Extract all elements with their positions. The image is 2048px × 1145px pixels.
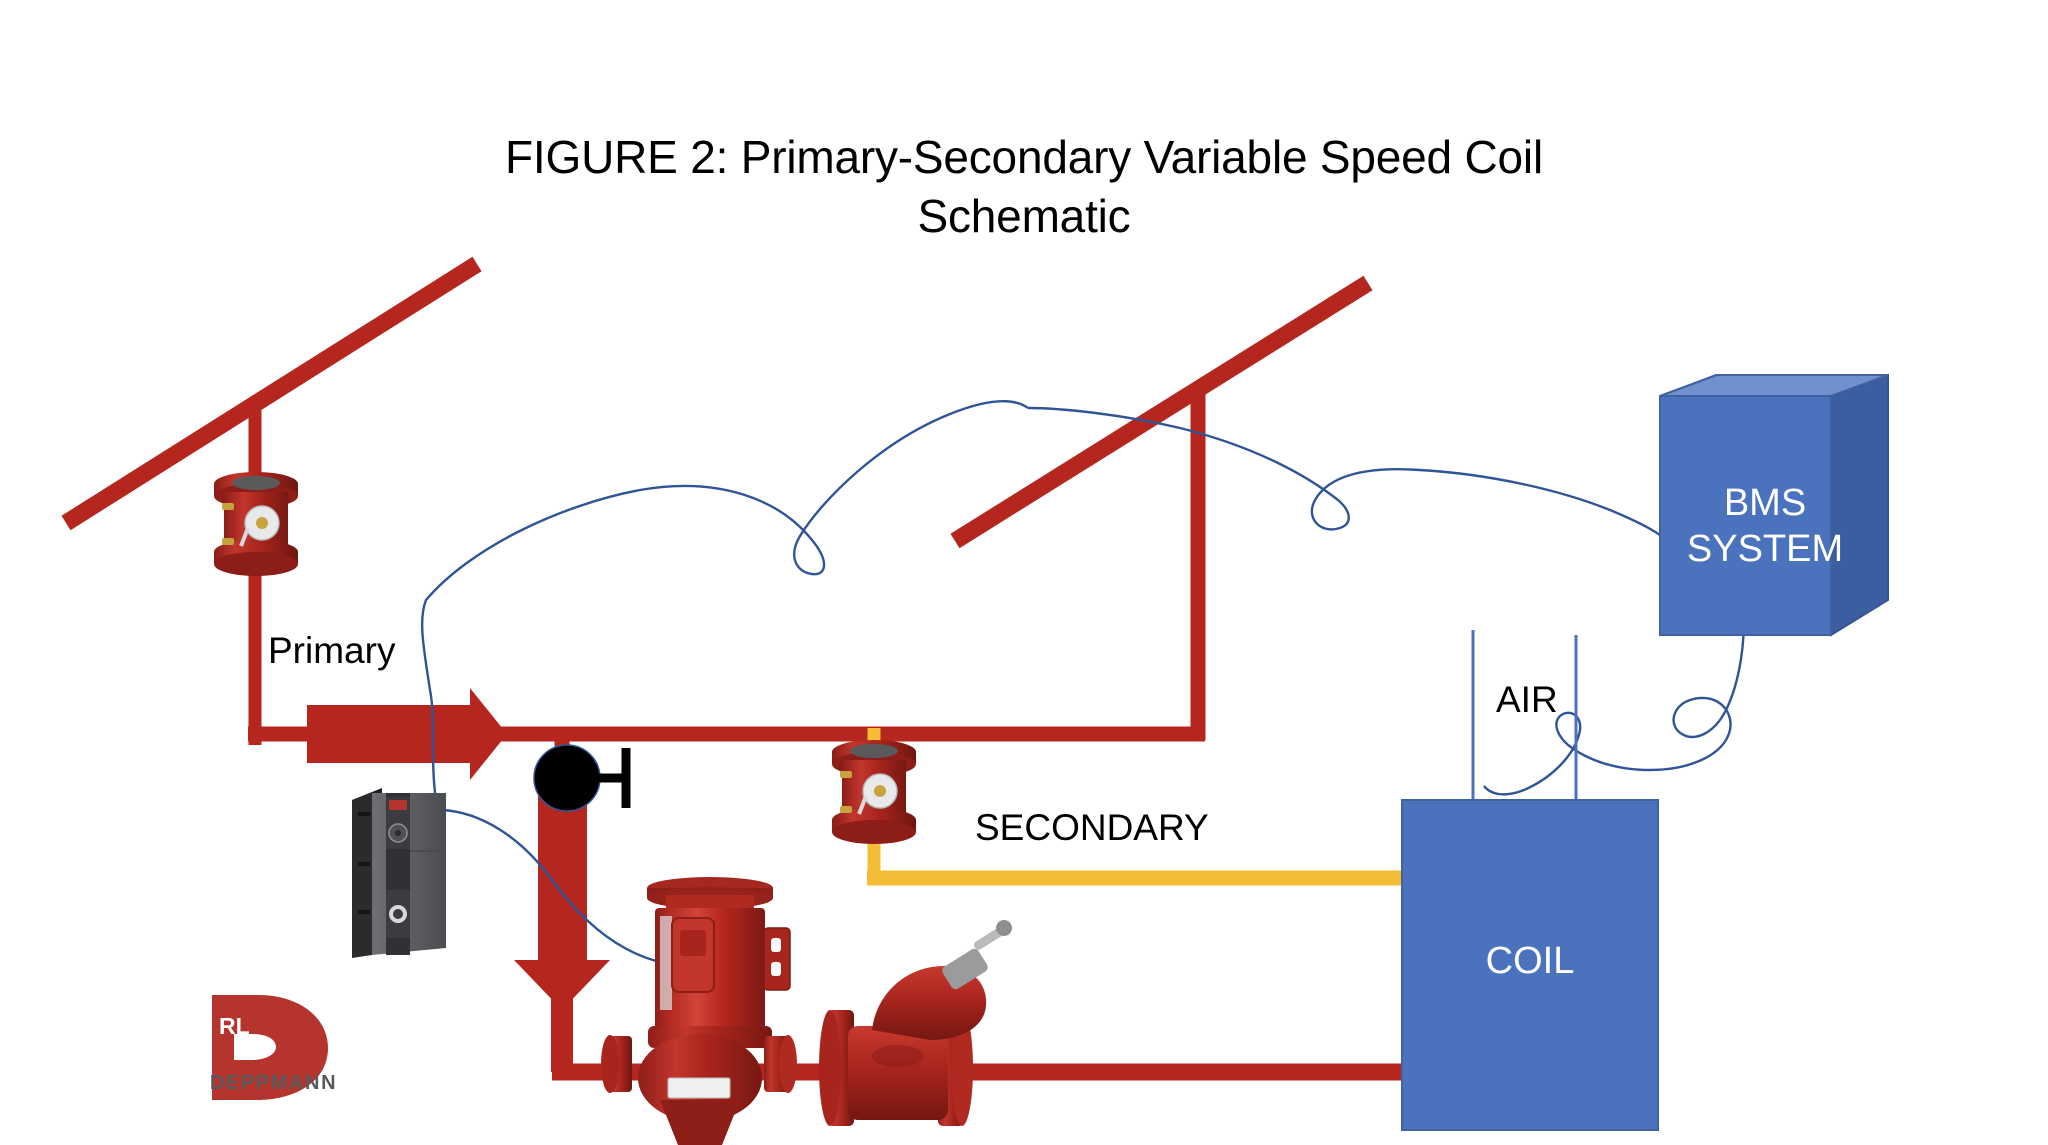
triple-duty-valve — [819, 920, 1012, 1126]
valve-s-bore — [850, 744, 898, 758]
vfd-left-fin-panel — [352, 793, 372, 958]
pump-suction-flange-face — [601, 1035, 619, 1093]
schematic-canvas: FIGURE 2: Primary-Secondary Variable Spe… — [0, 0, 2048, 1145]
vfd-fin-2 — [358, 862, 370, 866]
valve-p-handwheel-hub — [256, 517, 268, 529]
vfd-fin-1 — [358, 812, 370, 816]
pump-data-plate — [668, 1078, 730, 1098]
circuit-setter-valve-secondary — [832, 740, 916, 844]
vfd-connector-inner — [393, 909, 403, 919]
valve-s-flange-bot-lip — [832, 820, 916, 844]
pump-mount-slot-2 — [771, 962, 781, 976]
valve-s-handwheel-hub — [874, 785, 886, 797]
vfd-keypad-dial-center — [395, 830, 401, 836]
sensor-body-icon — [534, 745, 600, 811]
pump-volute-base — [660, 1100, 740, 1145]
pump-motor-nameplate — [660, 916, 672, 1010]
inline-pump — [601, 877, 797, 1145]
tdv-left-flange-face — [819, 1010, 841, 1126]
valve-s-port-upper — [840, 771, 852, 778]
pump-mount-bracket — [764, 928, 790, 990]
valve-p-flange-bot-lip — [214, 552, 298, 576]
variable-frequency-drive — [352, 788, 446, 958]
valve-p-bore — [232, 476, 280, 490]
tdv-body — [848, 1026, 948, 1120]
tdv-stem-nut — [996, 920, 1012, 936]
label-air: AIR — [1496, 679, 1558, 721]
primary-supply-arrow — [307, 688, 507, 780]
differential-pressure-sensor — [534, 745, 629, 811]
pump-mount-slot-1 — [771, 938, 781, 952]
logo-rl-text: RL — [219, 1013, 250, 1040]
pump-suction-arrow — [514, 795, 610, 1010]
coil-label: COIL — [1400, 940, 1660, 983]
circuit-setter-valve-primary — [214, 472, 298, 576]
tdv-body-boss — [872, 1045, 924, 1067]
secondary-return-pipe-diagonal — [955, 283, 1368, 541]
vfd-keypad-display — [389, 800, 407, 810]
bms-system-label: BMS SYSTEM — [1650, 480, 1880, 573]
label-secondary: SECONDARY — [975, 807, 1209, 849]
valve-s-port-lower — [840, 806, 852, 813]
pump-junction-ribs — [680, 930, 706, 956]
pump-discharge-flange-face — [779, 1035, 797, 1093]
label-primary: Primary — [268, 630, 395, 672]
valve-p-port-lower — [222, 538, 234, 545]
yellow-secondary-piping — [867, 728, 1425, 884]
vfd-fin-3 — [358, 910, 370, 914]
logo-wordmark: DEPPMANN — [196, 1072, 351, 1095]
valve-p-port-upper — [222, 503, 234, 510]
